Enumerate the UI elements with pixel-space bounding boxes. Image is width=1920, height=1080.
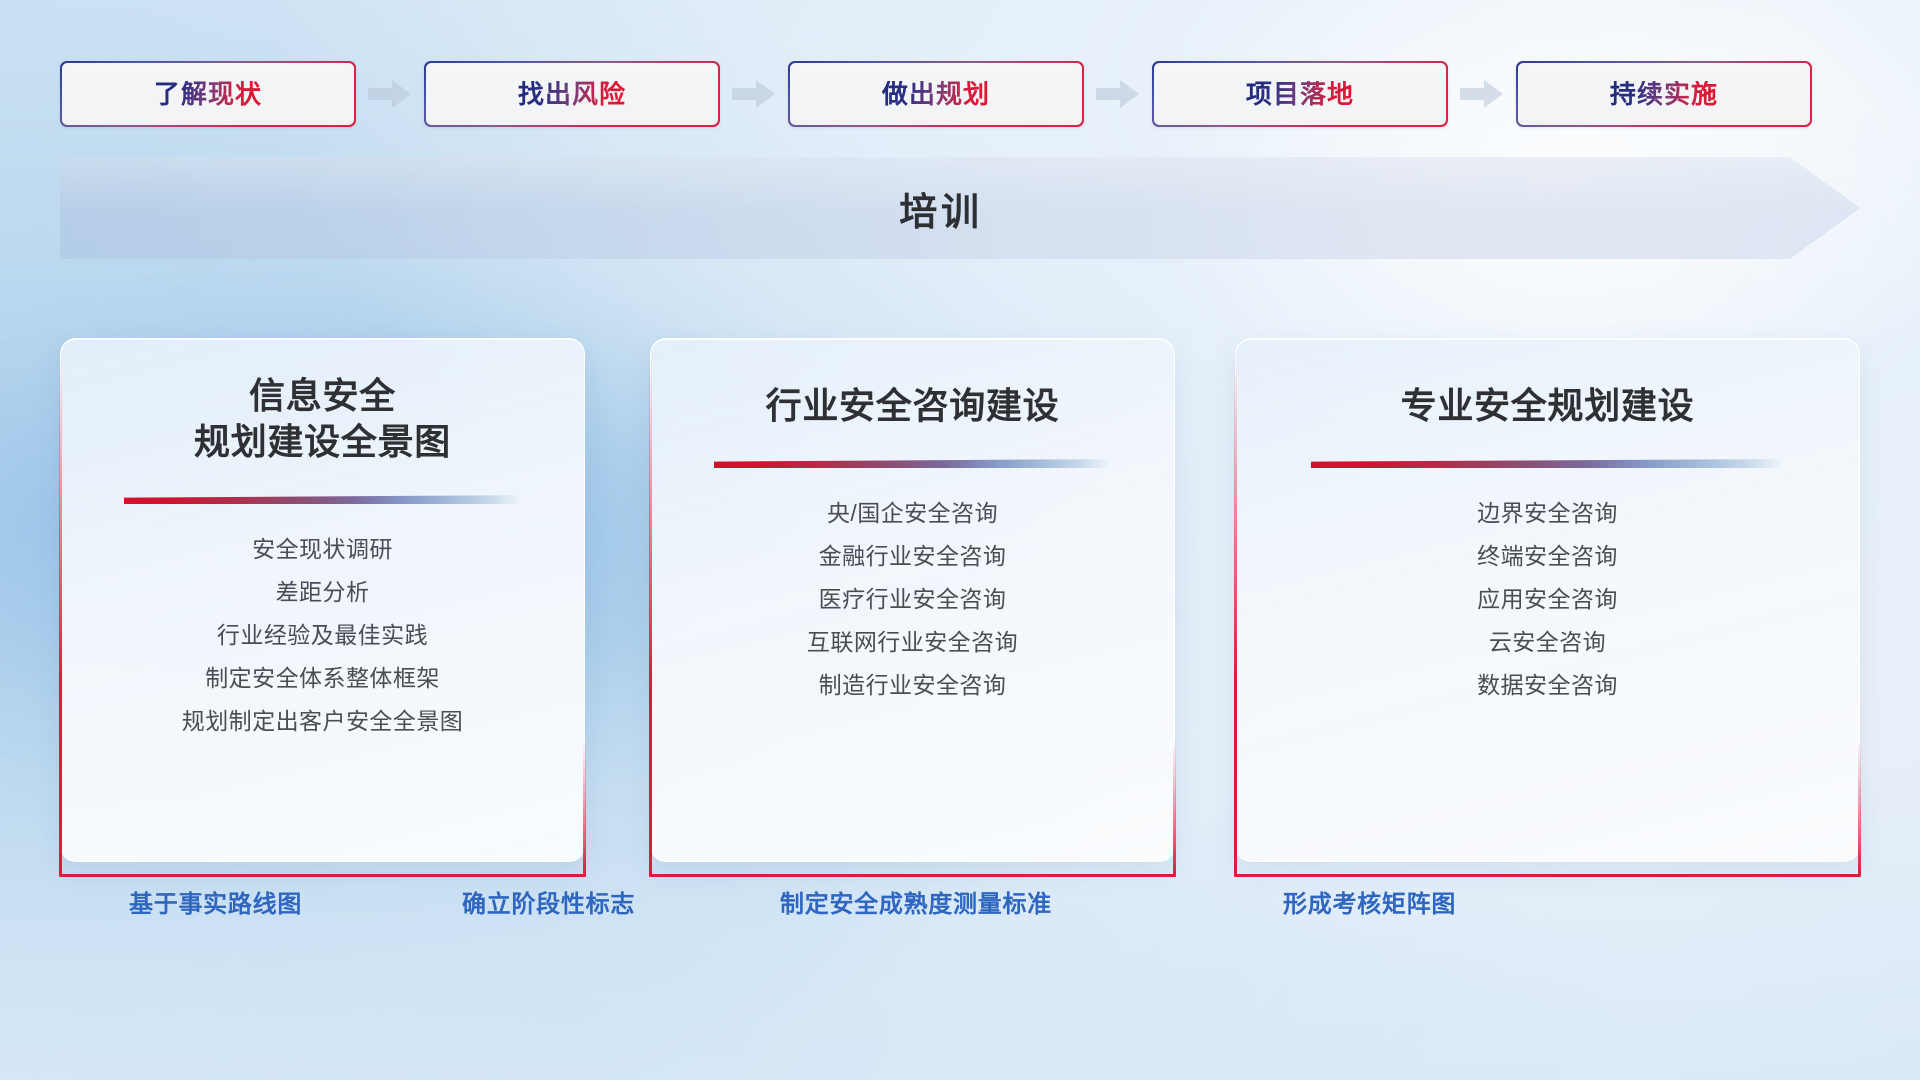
list-item: 规划制定出客户安全全景图 xyxy=(61,710,584,733)
list-item: 云安全咨询 xyxy=(1236,631,1859,654)
card-title-line-1: 行业安全咨询建设 xyxy=(671,383,1154,429)
bottom-label-2: 确立阶段性标志 xyxy=(462,884,635,919)
arrow-right-icon xyxy=(1096,79,1140,109)
list-item: 边界安全咨询 xyxy=(1236,502,1859,525)
process-step-4[interactable]: 项目落地 xyxy=(1152,61,1448,127)
card-item-list: 边界安全咨询 终端安全咨询 应用安全咨询 云安全咨询 数据安全咨询 xyxy=(1236,502,1859,697)
process-step-5[interactable]: 持续实施 xyxy=(1516,61,1812,127)
list-item: 医疗行业安全咨询 xyxy=(651,588,1174,611)
training-banner: 培训 xyxy=(60,157,1860,259)
process-step-label: 项目落地 xyxy=(1246,81,1354,107)
card-title: 专业安全规划建设 xyxy=(1236,383,1859,429)
card-title-line-2: 规划建设全景图 xyxy=(81,419,564,465)
card-right-accent xyxy=(1173,737,1176,877)
list-item: 央/国企安全咨询 xyxy=(651,502,1174,525)
list-item: 互联网行业安全咨询 xyxy=(651,631,1174,654)
process-step-label: 了解现状 xyxy=(154,81,262,107)
process-step-label: 找出风险 xyxy=(518,81,626,107)
bottom-label-1: 基于事实路线图 xyxy=(129,884,302,919)
list-item: 安全现状调研 xyxy=(61,538,584,561)
card-item-list: 安全现状调研 差距分析 行业经验及最佳实践 制定安全体系整体框架 规划制定出客户… xyxy=(61,538,584,733)
banner-title: 培训 xyxy=(60,157,1860,259)
card-item-list: 央/国企安全咨询 金融行业安全咨询 医疗行业安全咨询 互联网行业安全咨询 制造行… xyxy=(651,502,1174,697)
bottom-label-3: 制定安全成熟度测量标准 xyxy=(780,884,1052,919)
card-title-line-1: 专业安全规划建设 xyxy=(1256,383,1839,429)
arrow-right-icon xyxy=(1460,79,1504,109)
process-step-1[interactable]: 了解现状 xyxy=(60,61,356,127)
list-item: 制定安全体系整体框架 xyxy=(61,667,584,690)
process-step-2[interactable]: 找出风险 xyxy=(424,61,720,127)
card-divider xyxy=(714,459,1111,468)
list-item: 金融行业安全咨询 xyxy=(651,545,1174,568)
process-step-3[interactable]: 做出规划 xyxy=(788,61,1084,127)
card-title-line-1: 信息安全 xyxy=(81,373,564,419)
list-item: 应用安全咨询 xyxy=(1236,588,1859,611)
card-title: 行业安全咨询建设 xyxy=(651,383,1174,429)
list-item: 数据安全咨询 xyxy=(1236,674,1859,697)
card-divider xyxy=(1311,459,1784,468)
list-item: 制造行业安全咨询 xyxy=(651,674,1174,697)
list-item: 终端安全咨询 xyxy=(1236,545,1859,568)
card-row: 信息安全 规划建设全景图 安全现状调研 差距分析 行业经验及最佳实践 制定安全体… xyxy=(60,326,1860,874)
card-information-security-blueprint[interactable]: 信息安全 规划建设全景图 安全现状调研 差距分析 行业经验及最佳实践 制定安全体… xyxy=(60,338,585,862)
card-industry-security-consulting[interactable]: 行业安全咨询建设 央/国企安全咨询 金融行业安全咨询 医疗行业安全咨询 互联网行… xyxy=(650,338,1175,862)
arrow-right-icon xyxy=(732,79,776,109)
list-item: 行业经验及最佳实践 xyxy=(61,624,584,647)
card-divider xyxy=(124,495,521,504)
card-title: 信息安全 规划建设全景图 xyxy=(61,373,584,465)
card-right-accent xyxy=(583,737,586,877)
bottom-label-row: 基于事实路线图 确立阶段性标志 制定安全成熟度测量标准 形成考核矩阵图 xyxy=(0,884,1920,944)
process-steps: 了解现状 找出风险 做出规划 项目落地 持续实施 xyxy=(60,61,1860,127)
process-step-label: 做出规划 xyxy=(882,81,990,107)
card-professional-security-planning[interactable]: 专业安全规划建设 边界安全咨询 终端安全咨询 应用安全咨询 云安全咨询 数据安全… xyxy=(1235,338,1860,862)
bottom-label-4: 形成考核矩阵图 xyxy=(1283,884,1456,919)
list-item: 差距分析 xyxy=(61,581,584,604)
arrow-right-icon xyxy=(368,79,412,109)
process-step-label: 持续实施 xyxy=(1610,81,1718,107)
